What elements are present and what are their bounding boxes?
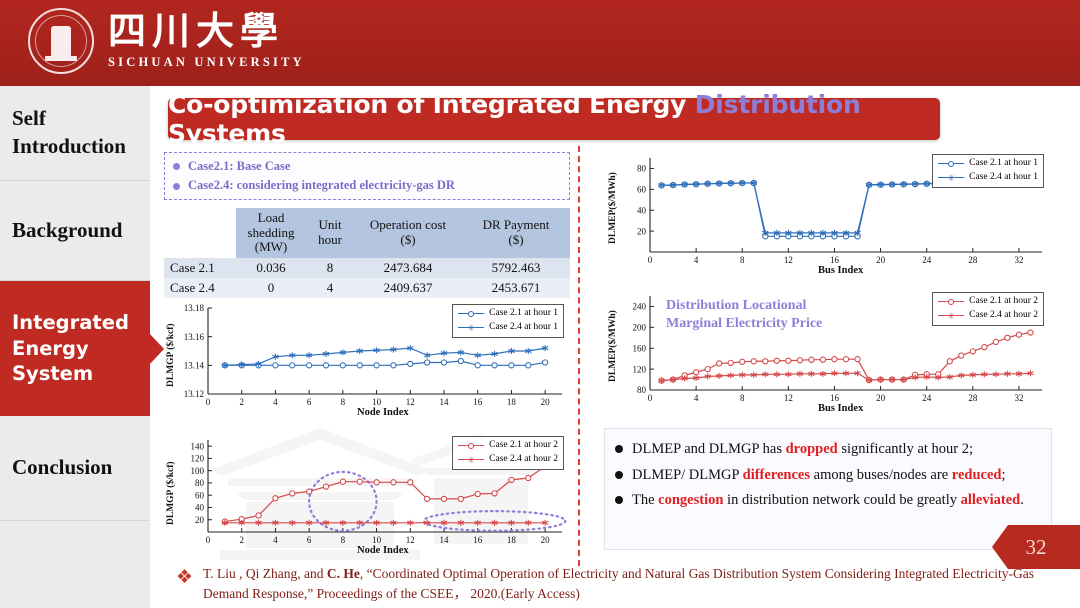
university-seal-icon <box>28 8 94 74</box>
table-cell-load-shedding: 0.036 <box>236 258 306 278</box>
svg-text:32: 32 <box>1014 393 1023 403</box>
sidebar-item-integrated-energy-system[interactable]: Integrated Energy System <box>0 281 150 416</box>
results-table: Load shedding (MW) Unit hour Operation c… <box>164 208 570 298</box>
title-part-1: Co-optimization of Integrated Energy <box>168 90 695 119</box>
svg-text:13.16: 13.16 <box>184 332 205 342</box>
table-header-unit-hour: Unit hour <box>306 208 354 258</box>
table-cell-dr-payment: 5792.463 <box>462 258 570 278</box>
svg-text:120: 120 <box>191 454 205 464</box>
svg-text:16: 16 <box>473 535 483 545</box>
slide-header: 四川大學 SICHUAN UNIVERSITY <box>0 0 1080 86</box>
case-description-box: Case2.1: Base Case Case2.4: considering … <box>164 152 570 200</box>
svg-text:8: 8 <box>740 393 745 403</box>
bullet-dot-icon <box>615 496 623 504</box>
reference-mark-icon: ❖ <box>176 568 193 587</box>
table-cell-case-name: Case 2.4 <box>164 278 236 298</box>
list-item: The congestion in distribution network c… <box>615 490 1043 511</box>
sidebar-item-self-introduction[interactable]: Self Introduction <box>0 86 150 181</box>
svg-text:18: 18 <box>507 397 517 407</box>
chart-dlmep-hour2: 04812162024283280120160200240Bus IndexDL… <box>606 290 1050 418</box>
y-axis-label: DLMGP ($/kcf) <box>166 461 176 525</box>
university-name-en: SICHUAN UNIVERSITY <box>108 55 305 70</box>
bullet-dot-icon <box>615 471 623 479</box>
page-title: Co-optimization of Integrated Energy Dis… <box>168 90 940 148</box>
svg-text:13.12: 13.12 <box>184 389 204 399</box>
svg-text:60: 60 <box>637 185 647 195</box>
svg-text:20: 20 <box>195 515 205 525</box>
plain-text: among buses/nodes are <box>810 467 952 483</box>
y-axis-label: DLMEP($/MWh) <box>608 173 618 245</box>
table-header-dr-payment: DR Payment ($) <box>462 208 570 258</box>
table-header-row: Load shedding (MW) Unit hour Operation c… <box>164 208 570 258</box>
plain-text: . <box>1020 492 1024 508</box>
title-accent-word: Distribution <box>695 90 861 119</box>
highlight-word: alleviated <box>961 492 1021 508</box>
legend-label: Case 2.4 at hour 1 <box>489 321 558 335</box>
legend-label: Case 2.1 at hour 2 <box>489 439 558 453</box>
svg-text:20: 20 <box>541 397 551 407</box>
svg-text:28: 28 <box>968 393 978 403</box>
svg-text:60: 60 <box>195 490 205 500</box>
plain-text: in distribution network could be greatly <box>723 492 960 508</box>
chart-dlmgp-hour1: 0246810121416182013.1213.1413.1613.18Nod… <box>164 302 570 420</box>
plain-text: The <box>632 492 658 508</box>
citation-authors-a: T. Liu , Qi Zhang, and <box>203 566 327 581</box>
svg-text:8: 8 <box>740 255 745 265</box>
svg-text:80: 80 <box>637 385 647 395</box>
svg-text:13.18: 13.18 <box>184 303 205 313</box>
legend-label: Case 2.1 at hour 1 <box>969 157 1038 171</box>
highlight-word: reduced <box>952 467 1002 483</box>
chart-annotation-text: Distribution LocationalMarginal Electric… <box>666 297 822 332</box>
legend-label: Case 2.1 at hour 2 <box>969 295 1038 309</box>
title-part-2: Systems <box>168 119 286 148</box>
citation-authors-b: C. He <box>327 566 360 581</box>
highlight-word: differences <box>743 467 810 483</box>
svg-text:0: 0 <box>206 535 211 545</box>
legend-label: Case 2.4 at hour 2 <box>489 453 558 467</box>
data-series-line <box>662 182 1031 233</box>
svg-text:40: 40 <box>195 503 205 513</box>
table-header-load-shedding: Load shedding (MW) <box>236 208 306 258</box>
svg-text:6: 6 <box>307 397 312 407</box>
svg-text:80: 80 <box>637 164 647 174</box>
svg-text:240: 240 <box>633 302 647 312</box>
svg-text:16: 16 <box>830 393 840 403</box>
table-row: Case 2.1 0.036 8 2473.684 5792.463 <box>164 258 570 278</box>
finding-text: DLMEP and DLMGP has dropped significantl… <box>632 439 973 460</box>
svg-text:13.14: 13.14 <box>184 361 205 371</box>
svg-text:20: 20 <box>876 255 886 265</box>
table-cell-operation-cost: 2473.684 <box>354 258 462 278</box>
svg-text:140: 140 <box>191 441 205 451</box>
svg-text:14: 14 <box>440 397 450 407</box>
data-series-line <box>662 182 1031 237</box>
table-cell-dr-payment: 2453.671 <box>462 278 570 298</box>
sidebar-item-label: Background <box>12 217 123 245</box>
citation-text: T. Liu , Qi Zhang, and C. He, “Coordinat… <box>203 564 1036 603</box>
legend-label: Case 2.1 at hour 1 <box>489 307 558 321</box>
svg-text:200: 200 <box>633 323 647 333</box>
legend-label: Case 2.4 at hour 2 <box>969 309 1038 323</box>
legend-entry: ✳Case 2.4 at hour 2 <box>458 453 558 467</box>
svg-text:0: 0 <box>206 397 211 407</box>
x-axis-label: Bus Index <box>818 403 863 414</box>
svg-text:0: 0 <box>648 393 653 403</box>
chart-dlmgp-hour2: 0246810121416182020406080100120140Node I… <box>164 432 570 560</box>
svg-text:14: 14 <box>440 535 450 545</box>
svg-text:18: 18 <box>507 535 517 545</box>
legend-entry: Case 2.1 at hour 1 <box>458 307 558 321</box>
slide-title-banner: Co-optimization of Integrated Energy Dis… <box>168 98 940 140</box>
bullet-dot-icon <box>615 445 623 453</box>
svg-text:12: 12 <box>784 393 793 403</box>
svg-text:120: 120 <box>633 364 647 374</box>
column-divider <box>578 146 580 566</box>
chart-legend: Case 2.1 at hour 2✳Case 2.4 at hour 2 <box>452 436 564 470</box>
case-1-label: Case2.1: Base Case <box>188 157 290 176</box>
svg-text:6: 6 <box>307 535 312 545</box>
legend-entry: Case 2.1 at hour 2 <box>458 439 558 453</box>
case-2-label: Case2.4: considering integrated electric… <box>188 176 455 195</box>
legend-entry: ✳Case 2.4 at hour 1 <box>938 171 1038 185</box>
svg-text:24: 24 <box>922 255 932 265</box>
svg-text:80: 80 <box>195 478 205 488</box>
legend-entry: ✳Case 2.4 at hour 1 <box>458 321 558 335</box>
finding-text: The congestion in distribution network c… <box>632 490 1024 511</box>
svg-text:20: 20 <box>541 535 551 545</box>
y-axis-label: DLMEP($/MWh) <box>608 311 618 383</box>
svg-text:20: 20 <box>637 226 647 236</box>
y-axis-label: DLMGP ($/kcf) <box>166 324 176 388</box>
sidebar-item-background[interactable]: Background <box>0 181 150 281</box>
table-cell-unit-hour: 8 <box>306 258 354 278</box>
plain-text: DLMEP and DLMGP has <box>632 441 786 457</box>
x-axis-label: Node Index <box>357 545 409 556</box>
svg-text:4: 4 <box>273 535 278 545</box>
svg-text:10: 10 <box>372 535 382 545</box>
svg-text:10: 10 <box>372 397 382 407</box>
svg-text:16: 16 <box>830 255 840 265</box>
table-cell-unit-hour: 4 <box>306 278 354 298</box>
sidebar-item-label: Self Introduction <box>12 105 150 160</box>
case-line-2: Case2.4: considering integrated electric… <box>173 176 561 195</box>
chart-legend: Case 2.1 at hour 1✳Case 2.4 at hour 1 <box>452 304 564 338</box>
svg-text:160: 160 <box>633 343 647 353</box>
highlight-word: congestion <box>658 492 723 508</box>
svg-text:4: 4 <box>273 397 278 407</box>
plain-text: ; <box>1001 467 1005 483</box>
legend-entry: Case 2.1 at hour 1 <box>938 157 1038 171</box>
sidebar-item-label: Conclusion <box>12 454 112 482</box>
legend-entry: ✳Case 2.4 at hour 2 <box>938 309 1038 323</box>
svg-text:16: 16 <box>473 397 483 407</box>
x-axis-label: Node Index <box>357 407 409 418</box>
sidebar-item-conclusion[interactable]: Conclusion <box>0 416 150 521</box>
legend-label: Case 2.4 at hour 1 <box>969 171 1038 185</box>
svg-text:2: 2 <box>239 535 244 545</box>
svg-text:100: 100 <box>191 466 205 476</box>
list-item: DLMEP and DLMGP has dropped significantl… <box>615 439 1043 460</box>
bullet-dot-icon <box>173 163 180 170</box>
x-axis-label: Bus Index <box>818 265 863 276</box>
table-header-corner <box>164 208 236 258</box>
svg-text:12: 12 <box>406 535 415 545</box>
plain-text: DLMEP/ DLMGP <box>632 467 743 483</box>
svg-text:4: 4 <box>694 255 699 265</box>
highlight-word: dropped <box>786 441 838 457</box>
university-name-cn: 四川大學 <box>108 12 305 50</box>
chart-legend: Case 2.1 at hour 2✳Case 2.4 at hour 2 <box>932 292 1044 326</box>
findings-list: DLMEP and DLMGP has dropped significantl… <box>604 428 1052 550</box>
list-item: DLMEP/ DLMGP differences among buses/nod… <box>615 465 1043 486</box>
sidebar-item-label: Integrated Energy System <box>12 310 150 387</box>
bullet-dot-icon <box>173 183 180 190</box>
svg-text:0: 0 <box>648 255 653 265</box>
sidebar-nav: Self Introduction Background Integrated … <box>0 86 150 608</box>
table-cell-case-name: Case 2.1 <box>164 258 236 278</box>
table-cell-operation-cost: 2409.637 <box>354 278 462 298</box>
chart-legend: Case 2.1 at hour 1✳Case 2.4 at hour 1 <box>932 154 1044 188</box>
legend-entry: Case 2.1 at hour 2 <box>938 295 1038 309</box>
plain-text: significantly at hour 2; <box>838 441 973 457</box>
finding-text: DLMEP/ DLMGP differences among buses/nod… <box>632 465 1005 486</box>
data-series-line <box>225 348 545 365</box>
table-cell-load-shedding: 0 <box>236 278 306 298</box>
slide-root: 四川大學 SICHUAN UNIVERSITY Self Introductio… <box>0 0 1080 608</box>
svg-text:32: 32 <box>1014 255 1023 265</box>
svg-text:20: 20 <box>876 393 886 403</box>
svg-text:24: 24 <box>922 393 932 403</box>
svg-text:40: 40 <box>637 205 647 215</box>
university-logo: 四川大學 SICHUAN UNIVERSITY <box>28 8 305 74</box>
svg-text:4: 4 <box>694 393 699 403</box>
page-number: 32 <box>1026 535 1047 560</box>
svg-text:12: 12 <box>784 255 793 265</box>
page-number-badge: 32 <box>992 525 1080 569</box>
svg-text:28: 28 <box>968 255 978 265</box>
citation: ❖ T. Liu , Qi Zhang, and C. He, “Coordin… <box>176 564 1036 603</box>
svg-text:8: 8 <box>341 397 346 407</box>
table-row: Case 2.4 0 4 2409.637 2453.671 <box>164 278 570 298</box>
svg-text:8: 8 <box>341 535 346 545</box>
svg-text:2: 2 <box>239 397 244 407</box>
chart-dlmep-hour1: 04812162024283220406080Bus IndexDLMEP($/… <box>606 152 1050 280</box>
table-header-operation-cost: Operation cost ($) <box>354 208 462 258</box>
svg-text:12: 12 <box>406 397 415 407</box>
case-line-1: Case2.1: Base Case <box>173 157 561 176</box>
